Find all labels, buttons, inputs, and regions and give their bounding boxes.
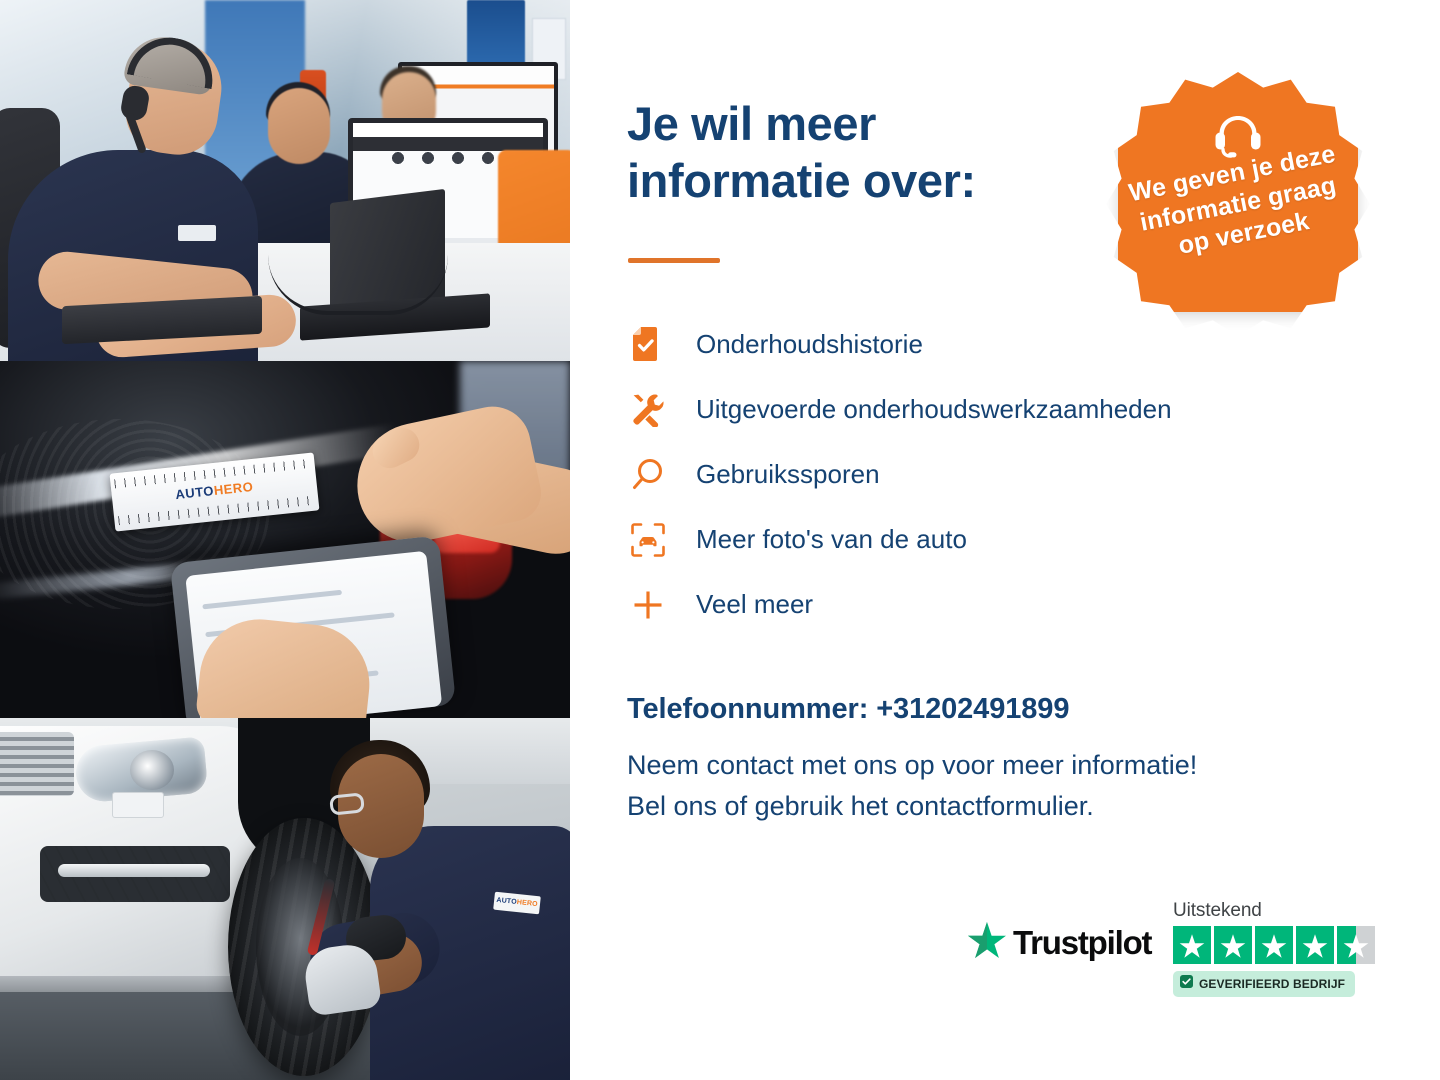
photo-callcenter [0, 0, 570, 361]
feature-item-much-more: Veel meer [626, 572, 1386, 637]
star-filled [1173, 926, 1211, 964]
agent-2-head [268, 88, 330, 164]
page-title: Je wil meer informatie over: [627, 95, 1097, 210]
photo-inspection-ruler: AUTOHERO [0, 361, 570, 718]
feature-label: Gebruikssporen [696, 459, 880, 490]
contact-text: Neem contact met ons op voor meer inform… [627, 745, 1387, 826]
trustpilot-widget[interactable]: Trustpilot Uitstekend [968, 900, 1388, 1005]
vehicle-lift [0, 974, 250, 992]
tablet-text-line [202, 590, 342, 610]
content-panel: Je wil meer informatie over: We geven je… [570, 0, 1440, 1080]
star-filled [1296, 926, 1334, 964]
feature-list: Onderhoudshistorie Uitgevoerde onderhoud… [626, 312, 1386, 637]
feature-item-wear-traces: Gebruikssporen [626, 442, 1386, 507]
tools-wrench-screwdriver-icon [626, 390, 670, 430]
rating-stars [1173, 926, 1375, 964]
bumper-chrome-strip [58, 864, 210, 877]
licence-plate-area [112, 792, 164, 818]
brand-hero: HERO [516, 899, 538, 908]
feature-item-maintenance-history: Onderhoudshistorie [626, 312, 1386, 377]
heading-line-2: informatie over: [627, 154, 976, 207]
document-check-icon [626, 325, 670, 365]
rating-label: Uitstekend [1173, 900, 1375, 922]
promo-banner: AUTOHERO [0, 0, 1440, 1080]
brand-hero: HERO [213, 479, 254, 498]
car-scan-icon [626, 520, 670, 560]
photo-wheel-inspection: AUTOHERO [0, 718, 570, 1080]
feature-item-maintenance-work: Uitgevoerde onderhoudswerkzaamheden [626, 377, 1386, 442]
phone-number-line: Telefoonnummer: +31202491899 [627, 693, 1069, 726]
headlight-lens [130, 750, 174, 790]
star-half [1337, 926, 1375, 964]
car-grille [0, 732, 74, 796]
title-underline-rule [628, 258, 720, 263]
feature-label: Meer foto's van de auto [696, 524, 967, 555]
trustpilot-logo: Trustpilot [968, 922, 1151, 963]
trustpilot-rating-block: Uitstekend [1173, 900, 1375, 997]
contact-text-line-1: Neem contact met ons op voor meer inform… [627, 745, 1387, 786]
info-on-request-badge: We geven je deze informatie graag op ver… [1118, 72, 1358, 312]
verified-business-badge: GEVERIFIEERD BEDRIJF [1173, 971, 1355, 997]
star-filled [1214, 926, 1252, 964]
feature-label: Veel meer [696, 589, 813, 620]
brand-auto: AUTO [175, 483, 215, 502]
feature-item-more-photos: Meer foto's van de auto [626, 507, 1386, 572]
heading-line-1: Je wil meer [627, 97, 876, 150]
feature-label: Onderhoudshistorie [696, 329, 923, 360]
photo-strip: AUTOHERO [0, 0, 570, 1080]
contact-text-line-2: Bel ons of gebruik het contactformulier. [627, 786, 1387, 827]
magnifier-icon [626, 455, 670, 495]
verified-label: GEVERIFIEERD BEDRIJF [1199, 977, 1345, 991]
agent-1-name-badge [178, 225, 216, 241]
plus-icon [626, 585, 670, 625]
star-filled [1255, 926, 1293, 964]
feature-label: Uitgevoerde onderhoudswerkzaamheden [696, 394, 1172, 425]
verified-check-icon [1180, 975, 1193, 993]
brand-auto: AUTO [496, 897, 517, 906]
trustpilot-star-icon [968, 922, 1006, 963]
trustpilot-wordmark: Trustpilot [1013, 924, 1151, 962]
